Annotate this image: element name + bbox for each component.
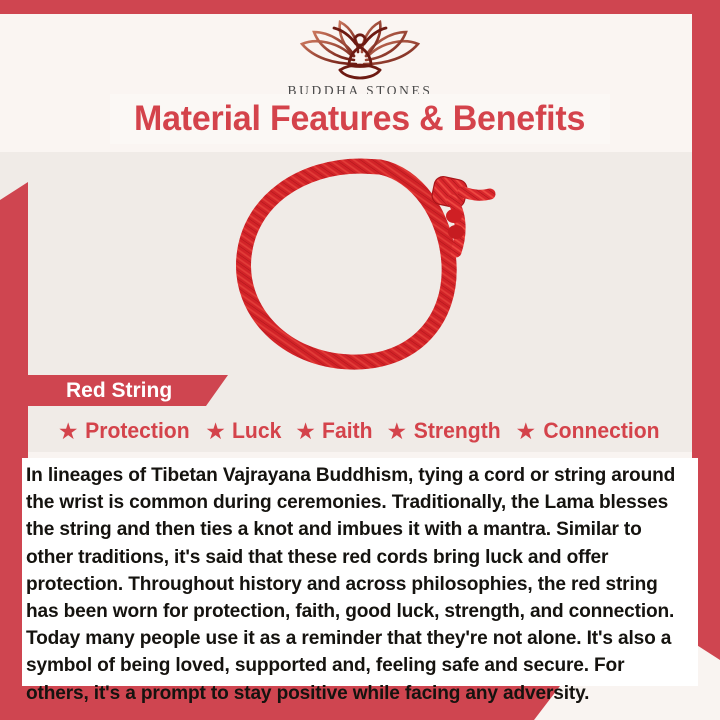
benefit-label: Protection: [86, 418, 190, 444]
benefit-label: Connection: [544, 418, 660, 444]
product-label-banner: Red String: [28, 375, 228, 406]
benefit-item-faith: ★ Faith: [295, 418, 373, 444]
infographic-canvas: BUDDHA STONES Material Features & Benefi…: [0, 0, 720, 720]
benefit-label: Strength: [414, 418, 501, 444]
star-icon: ★: [386, 420, 407, 443]
star-icon: ★: [295, 420, 316, 443]
title-banner: Material Features & Benefits: [110, 94, 610, 144]
red-braided-string-bracelet-icon: [190, 152, 530, 377]
product-label: Red String: [66, 379, 172, 403]
benefit-label: Faith: [322, 418, 372, 444]
benefit-label: Luck: [232, 418, 281, 444]
frame-top-bar: [0, 0, 720, 14]
benefit-item-luck: ★ Luck: [205, 418, 282, 444]
lotus-meditation-icon: [294, 18, 426, 80]
star-icon: ★: [516, 420, 537, 443]
benefit-item-protection: ★ Protection: [58, 418, 192, 444]
benefit-item-strength: ★ Strength: [386, 418, 502, 444]
description-panel: In lineages of Tibetan Vajrayana Buddhis…: [22, 458, 698, 686]
product-image: [190, 152, 530, 377]
benefit-item-connection: ★ Connection: [516, 418, 663, 444]
star-icon: ★: [205, 420, 226, 443]
benefits-list: ★ Protection ★ Luck ★ Faith ★ Strength ★…: [28, 418, 692, 444]
page-title: Material Features & Benefits: [134, 99, 585, 139]
brand-logo: BUDDHA STONES: [0, 18, 720, 99]
star-icon: ★: [58, 420, 79, 443]
description-text: In lineages of Tibetan Vajrayana Buddhis…: [26, 462, 680, 707]
